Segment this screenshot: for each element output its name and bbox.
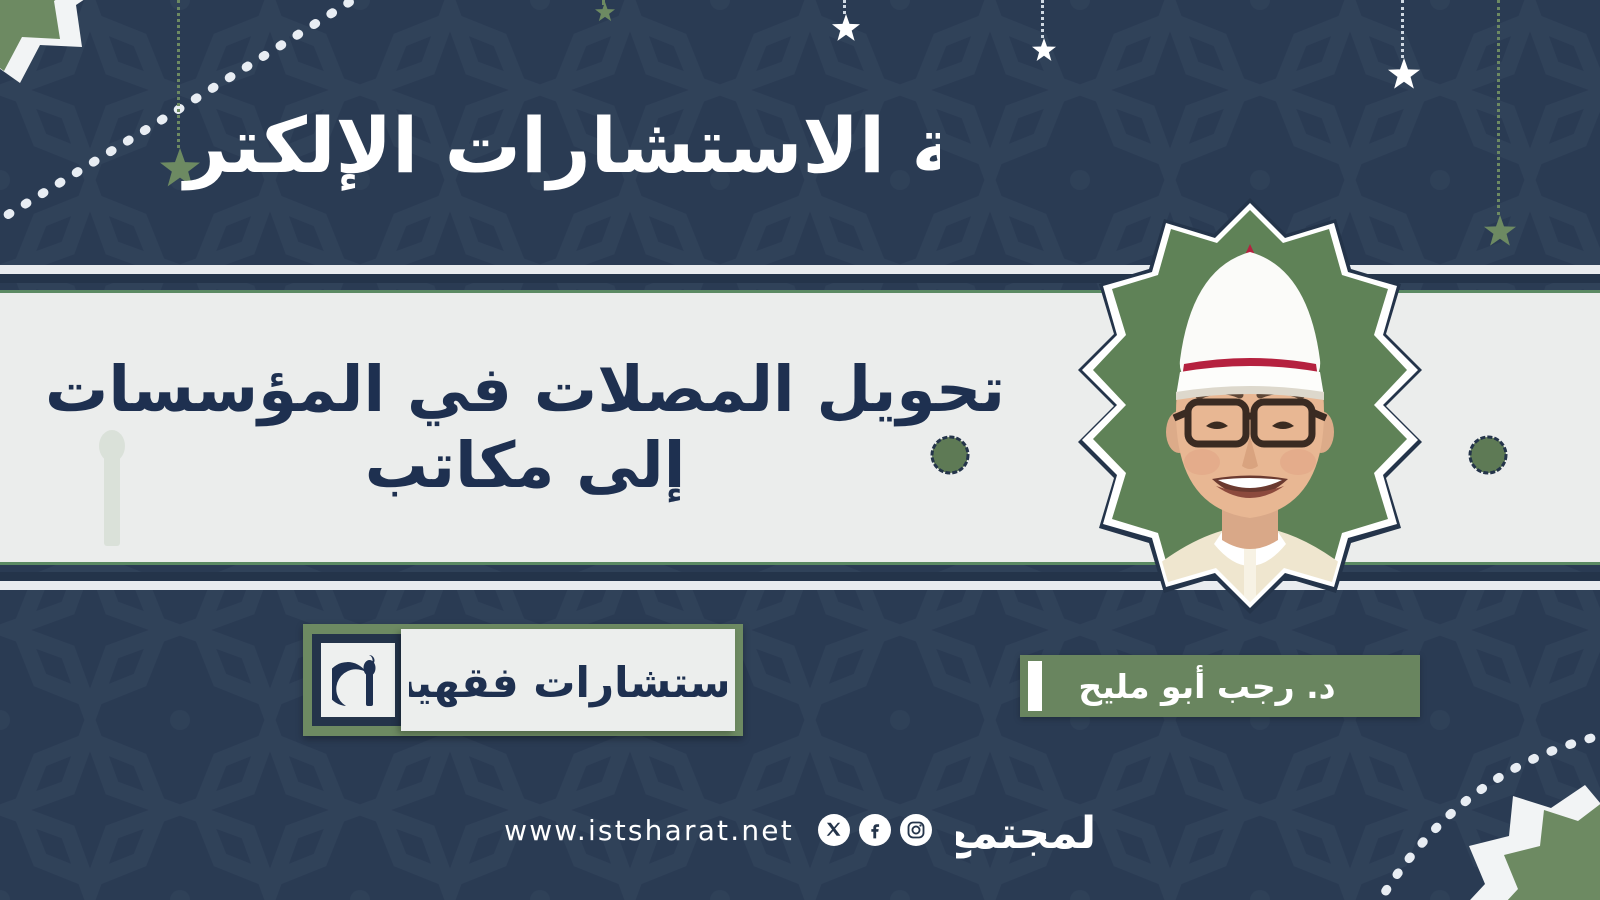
website-url[interactable]: www.istsharat.net (504, 814, 794, 847)
main-title: تحويل المصلات في المؤسسات إلى مكاتب (30, 292, 1020, 564)
header-calligraphy-text: بوابة الاستشارات الإلكترونية (180, 101, 940, 191)
footer-bar: المجتمع www.istsharat.net (0, 790, 1600, 870)
facebook-icon[interactable] (859, 814, 891, 846)
ribbon-calligraphy-text: استشارات فقهية (409, 658, 727, 708)
social-links[interactable] (818, 814, 932, 846)
header-calligraphy: بوابة الاستشارات الإلكترونية (180, 60, 940, 220)
poster-canvas: بوابة الاستشارات الإلكترونية (0, 0, 1600, 900)
ribbon-calligraphy-plate: استشارات فقهية (401, 629, 735, 731)
speaker-nameplate: د. رجب أبو مليح (1020, 655, 1420, 717)
nameplate-accent-tab (1028, 661, 1042, 711)
title-line-1: تحويل المصلات في المؤسسات (45, 353, 1005, 427)
scallop-circle-right (1466, 433, 1510, 477)
title-line-2: إلى مكاتب (365, 429, 686, 503)
instagram-icon[interactable] (900, 814, 932, 846)
mosque-crescent-logo (332, 652, 384, 708)
category-ribbon: استشارات فقهية (303, 624, 743, 736)
ribbon-logo-plate (321, 643, 395, 717)
speaker-name: د. رجب أبو مليح (1078, 667, 1335, 706)
brand-calligraphy-logo: المجتمع (956, 790, 1096, 870)
x-twitter-icon[interactable] (818, 814, 850, 846)
brand-calligraphy-text: المجتمع (956, 808, 1096, 859)
ribbon-logo-frame (312, 634, 404, 726)
speaker-portrait (1036, 196, 1464, 624)
